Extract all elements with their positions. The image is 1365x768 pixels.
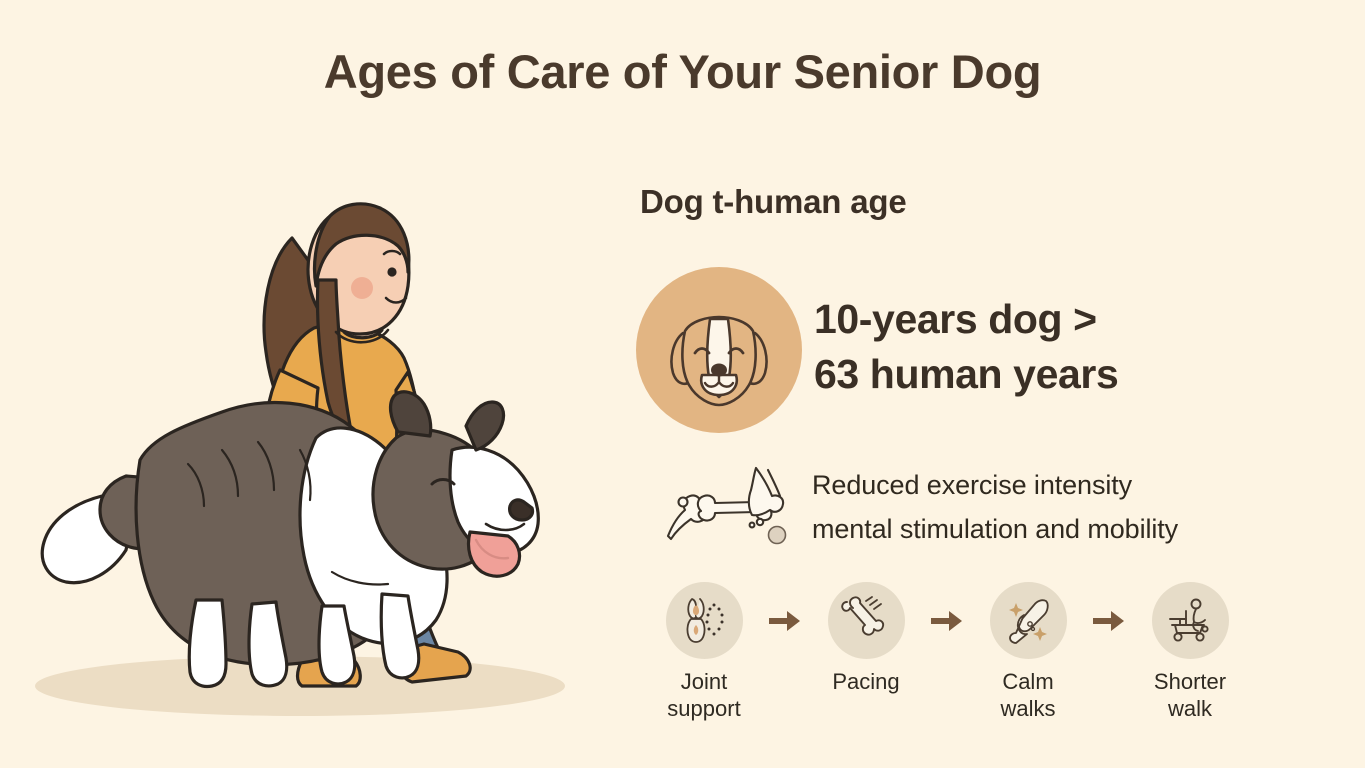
step-shorter-walk[interactable]: Shorter walk xyxy=(1136,582,1244,723)
step-arrow-2 xyxy=(920,582,974,659)
ball-icon xyxy=(769,527,786,544)
knee-sparkle-icon xyxy=(1002,595,1054,647)
step-icon-circle xyxy=(828,582,905,659)
step-arrow-3 xyxy=(1082,582,1136,659)
page-title: Ages of Care of Your Senior Dog xyxy=(0,44,1365,99)
body-text-line-1: Reduced exercise intensity xyxy=(812,464,1178,508)
bone-joint-icon xyxy=(660,462,795,547)
step-pacing[interactable]: Pacing xyxy=(812,582,920,696)
step-icon-circle xyxy=(990,582,1067,659)
woman-walking-dog-illustration xyxy=(0,120,640,740)
age-conversion-stat: 10-years dog > 63 human years xyxy=(814,292,1118,401)
step-icon-circle xyxy=(1152,582,1229,659)
step-calm-walks[interactable]: Calm walks xyxy=(974,582,1082,723)
body-text: Reduced exercise intensity mental stimul… xyxy=(812,464,1178,551)
step-label: Joint support xyxy=(667,669,740,723)
step-icon-circle xyxy=(666,582,743,659)
mobility-cart-icon xyxy=(1164,595,1216,647)
step-label: Calm walks xyxy=(1000,669,1055,723)
dog-face-icon xyxy=(636,267,802,433)
arrow-right-icon xyxy=(769,610,801,632)
step-label: Shorter walk xyxy=(1136,669,1244,723)
arrow-right-icon xyxy=(931,610,963,632)
step-label: Pacing xyxy=(832,669,899,696)
section-subheading: Dog t-human age xyxy=(640,183,907,221)
dog-age-circle xyxy=(636,267,802,433)
step-joint-support[interactable]: Joint support xyxy=(650,582,758,723)
care-steps-row: Joint support Pa xyxy=(650,582,1270,723)
age-stat-line-1: 10-years dog > xyxy=(814,292,1118,347)
age-stat-line-2: 63 human years xyxy=(814,347,1118,402)
infographic-canvas: Ages of Care of Your Senior Dog xyxy=(0,0,1365,768)
body-text-line-2: mental stimulation and mobility xyxy=(812,508,1178,552)
step-arrow-1 xyxy=(758,582,812,659)
joint-support-icon xyxy=(678,595,730,647)
bone-joint-illustration xyxy=(660,462,795,547)
bone-motion-icon xyxy=(840,595,892,647)
arrow-right-icon xyxy=(1093,610,1125,632)
